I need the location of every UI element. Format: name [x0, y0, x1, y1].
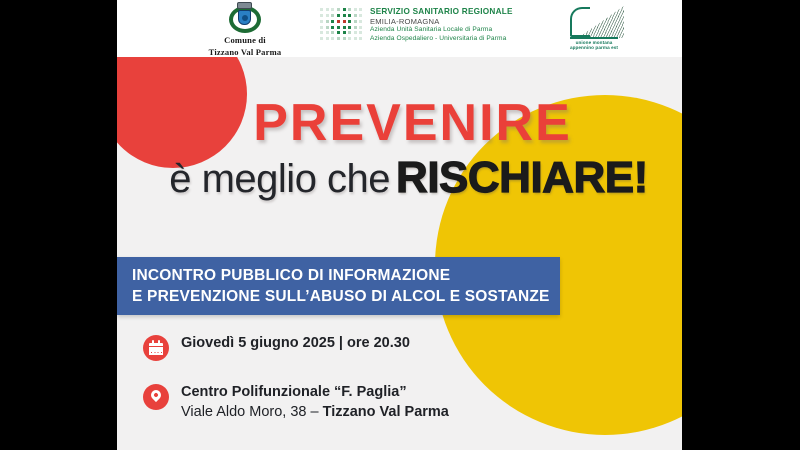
event-date-text: Giovedì 5 giugno 2025 | ore 20.30: [181, 334, 410, 353]
screenshot-canvas: Comune di Tizzano Val Parma SERVIZIO SAN…: [0, 0, 800, 450]
ssr-line1: SERVIZIO SANITARIO REGIONALE: [370, 7, 513, 17]
ssr-line3: Azienda Unità Sanitaria Locale di Parma: [370, 26, 513, 35]
logo-servizio-sanitario-regionale: SERVIZIO SANITARIO REGIONALE EMILIA-ROMA…: [320, 7, 513, 43]
logo-comune-line2: Tizzano Val Parma: [190, 48, 300, 58]
logo-header-strip: Comune di Tizzano Val Parma SERVIZIO SAN…: [117, 0, 682, 57]
headline-text-rischiare: RISCHIARE!: [396, 153, 648, 202]
headline-line-two: è meglio cheRISCHIARE!: [135, 155, 682, 211]
venue-address-street: Viale Aldo Moro, 38 –: [181, 404, 319, 420]
banner-line2: E PREVENZIONE SULL’ABUSO DI ALCOL E SOST…: [132, 288, 550, 306]
headline-text-e-meglio-che: è meglio che: [169, 157, 390, 201]
coat-of-arms-crest-icon: [228, 2, 262, 34]
event-date-row: Giovedì 5 giugno 2025 | ore 20.30: [143, 334, 449, 361]
venue-address: Viale Aldo Moro, 38 – Tizzano Val Parma: [181, 403, 449, 422]
headline-line-prevenire: PREVENIRE: [143, 95, 682, 151]
venue-address-city: Tizzano Val Parma: [323, 404, 449, 420]
event-details: Giovedì 5 giugno 2025 | ore 20.30 Centro…: [143, 334, 449, 444]
banner-line1: INCONTRO PUBBLICO DI INFORMAZIONE: [132, 267, 450, 285]
event-venue-row: Centro Polifunzionale “F. Paglia” Viale …: [143, 383, 449, 422]
unione-line2: appennino parma est: [549, 45, 639, 50]
ssr-line2: EMILIA-ROMAGNA: [370, 17, 513, 26]
mountain-hatch-logo-icon: [564, 4, 624, 40]
logo-comune-di-tizzano: Comune di Tizzano Val Parma: [190, 2, 300, 57]
event-date-text-wrap: Giovedì 5 giugno 2025 | ore 20.30: [181, 334, 410, 353]
venue-name: Centro Polifunzionale “F. Paglia”: [181, 383, 449, 402]
dot-matrix-logo-icon: [320, 8, 364, 42]
logo-unione-montana: unione montana appennino parma est: [549, 4, 639, 51]
poster-headline: PREVENIRE è meglio cheRISCHIARE!: [117, 95, 682, 211]
event-venue-text-wrap: Centro Polifunzionale “F. Paglia” Viale …: [181, 383, 449, 422]
subtitle-banner: INCONTRO PUBBLICO DI INFORMAZIONE E PREV…: [117, 257, 560, 315]
location-pin-icon: [143, 384, 169, 410]
calendar-icon: [143, 335, 169, 361]
ssr-line4: Azienda Ospedaliero - Universitaria di P…: [370, 35, 513, 44]
event-poster: Comune di Tizzano Val Parma SERVIZIO SAN…: [117, 0, 682, 450]
logo-comune-line1: Comune di: [190, 36, 300, 46]
